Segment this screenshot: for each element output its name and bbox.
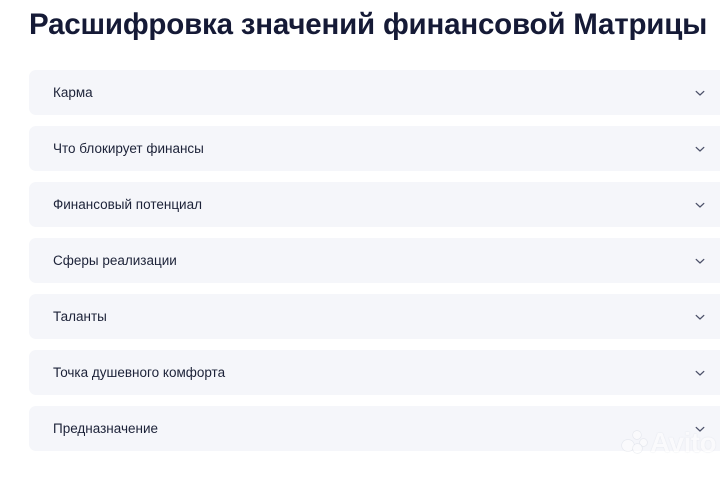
- accordion-item[interactable]: Точка душевного комфорта: [29, 350, 720, 395]
- chevron-down-icon[interactable]: [694, 199, 706, 211]
- chevron-down-icon[interactable]: [694, 423, 706, 435]
- chevron-down-icon[interactable]: [694, 255, 706, 267]
- accordion-item-label: Точка душевного комфорта: [53, 350, 225, 395]
- accordion-item-label: Сферы реализации: [53, 238, 177, 283]
- chevron-down-icon[interactable]: [694, 87, 706, 99]
- accordion-item[interactable]: Сферы реализации: [29, 238, 720, 283]
- accordion-item-label: Таланты: [53, 294, 107, 339]
- accordion-item-label: Предназначение: [53, 406, 158, 451]
- page-root: Расшифровка значений финансовой Матрицы …: [0, 0, 720, 486]
- accordion-list: КармаЧто блокирует финансыФинансовый пот…: [29, 70, 720, 451]
- page-title: Расшифровка значений финансовой Матрицы: [29, 7, 720, 43]
- chevron-down-icon[interactable]: [694, 367, 706, 379]
- accordion-item-label: Карма: [53, 70, 93, 115]
- accordion-item[interactable]: Финансовый потенциал: [29, 182, 720, 227]
- accordion-item[interactable]: Предназначение: [29, 406, 720, 451]
- accordion-item-label: Финансовый потенциал: [53, 182, 202, 227]
- accordion-item-label: Что блокирует финансы: [53, 126, 204, 171]
- chevron-down-icon[interactable]: [694, 143, 706, 155]
- accordion-item[interactable]: Карма: [29, 70, 720, 115]
- accordion-item[interactable]: Что блокирует финансы: [29, 126, 720, 171]
- chevron-down-icon[interactable]: [694, 311, 706, 323]
- accordion-item[interactable]: Таланты: [29, 294, 720, 339]
